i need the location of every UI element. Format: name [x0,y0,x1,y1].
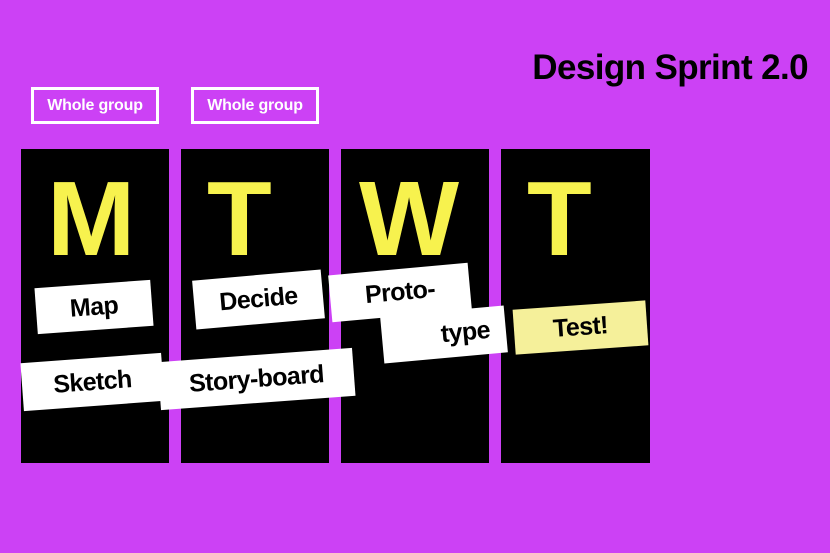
day-letter-thursday: T [527,173,590,266]
whole-group-tag-2: Whole group [191,87,319,124]
sticky-note-type-label: type [393,318,495,352]
sticky-note-map-label: Map [69,293,119,321]
sticky-note-decide-label: Decide [218,284,298,316]
whole-group-tag-2-label: Whole group [207,98,303,114]
whole-group-tag-1-label: Whole group [47,98,143,114]
day-letter-tuesday: T [207,173,270,266]
sticky-note-sketch-label: Sketch [52,367,132,398]
sticky-note-proto-label: Proto- [341,275,459,310]
sticky-note-test-label: Test! [552,313,608,342]
design-sprint-poster: Design Sprint 2.0 Whole group Whole grou… [0,0,830,553]
day-letter-monday: M [47,173,133,266]
sticky-note-map: Map [34,280,153,334]
page-title: Design Sprint 2.0 [532,50,808,85]
sticky-note-test: Test! [513,300,649,354]
whole-group-tag-1: Whole group [31,87,159,124]
day-letter-wednesday: W [359,173,457,266]
sticky-note-sketch: Sketch [20,353,164,411]
sticky-note-storyboard-label: Story-board [188,362,325,397]
